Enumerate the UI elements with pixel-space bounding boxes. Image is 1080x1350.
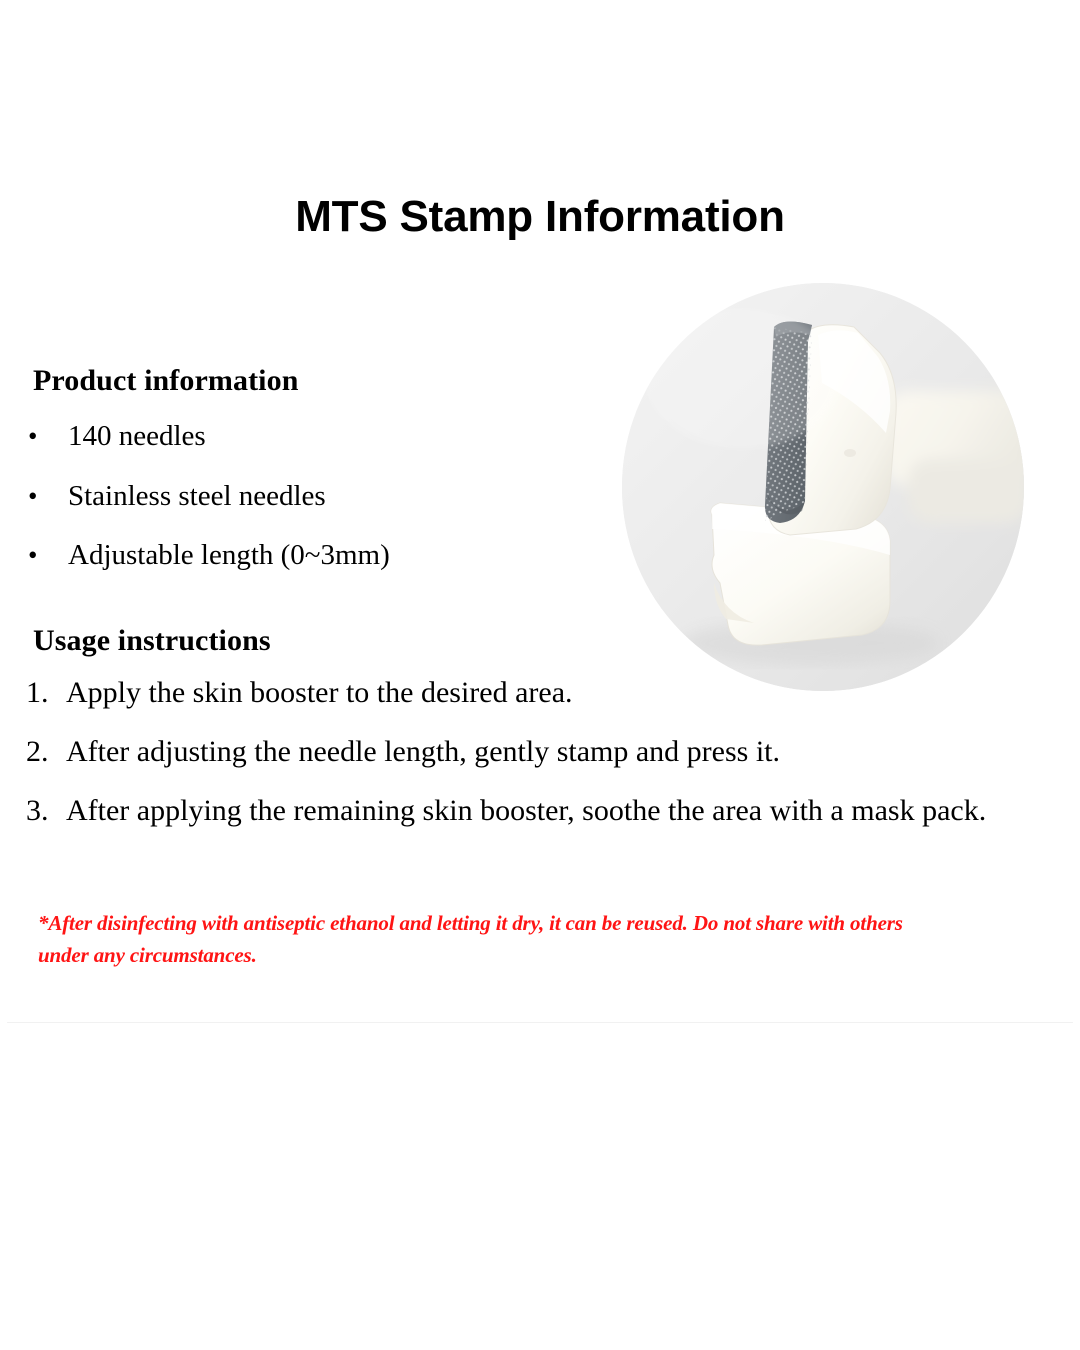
step-number: 3.: [26, 788, 66, 834]
list-item: • Stainless steel needles: [28, 477, 326, 515]
list-item: 3. After applying the remaining skin boo…: [26, 788, 1056, 834]
bullet-icon: •: [28, 477, 68, 515]
product-photo: [622, 283, 1024, 691]
list-item-label: Adjustable length (0~3mm): [68, 536, 390, 574]
product-information-page: MTS Stamp Information: [0, 0, 1080, 1350]
list-item: 1. Apply the skin booster to the desired…: [26, 670, 1056, 716]
product-photo-illustration: [622, 283, 1024, 691]
list-item: • Adjustable length (0~3mm): [28, 536, 390, 574]
section-divider: [7, 1022, 1073, 1023]
bullet-icon: •: [28, 536, 68, 574]
step-number: 1.: [26, 670, 66, 716]
list-item-label: Stainless steel needles: [68, 477, 326, 515]
bullet-icon: •: [28, 417, 68, 455]
step-number: 2.: [26, 729, 66, 775]
step-text: After adjusting the needle length, gentl…: [66, 729, 1056, 775]
disclaimer-note: *After disinfecting with antiseptic etha…: [38, 907, 928, 971]
step-text: Apply the skin booster to the desired ar…: [66, 670, 1056, 716]
product-information-heading: Product information: [33, 364, 299, 398]
list-item-label: 140 needles: [68, 417, 206, 455]
photo-sheen: [646, 309, 838, 449]
step-text: After applying the remaining skin booste…: [66, 788, 1056, 834]
list-item: • 140 needles: [28, 417, 206, 455]
usage-instructions-heading: Usage instructions: [33, 624, 271, 658]
list-item: 2. After adjusting the needle length, ge…: [26, 729, 1056, 775]
page-title: MTS Stamp Information: [0, 189, 1080, 245]
